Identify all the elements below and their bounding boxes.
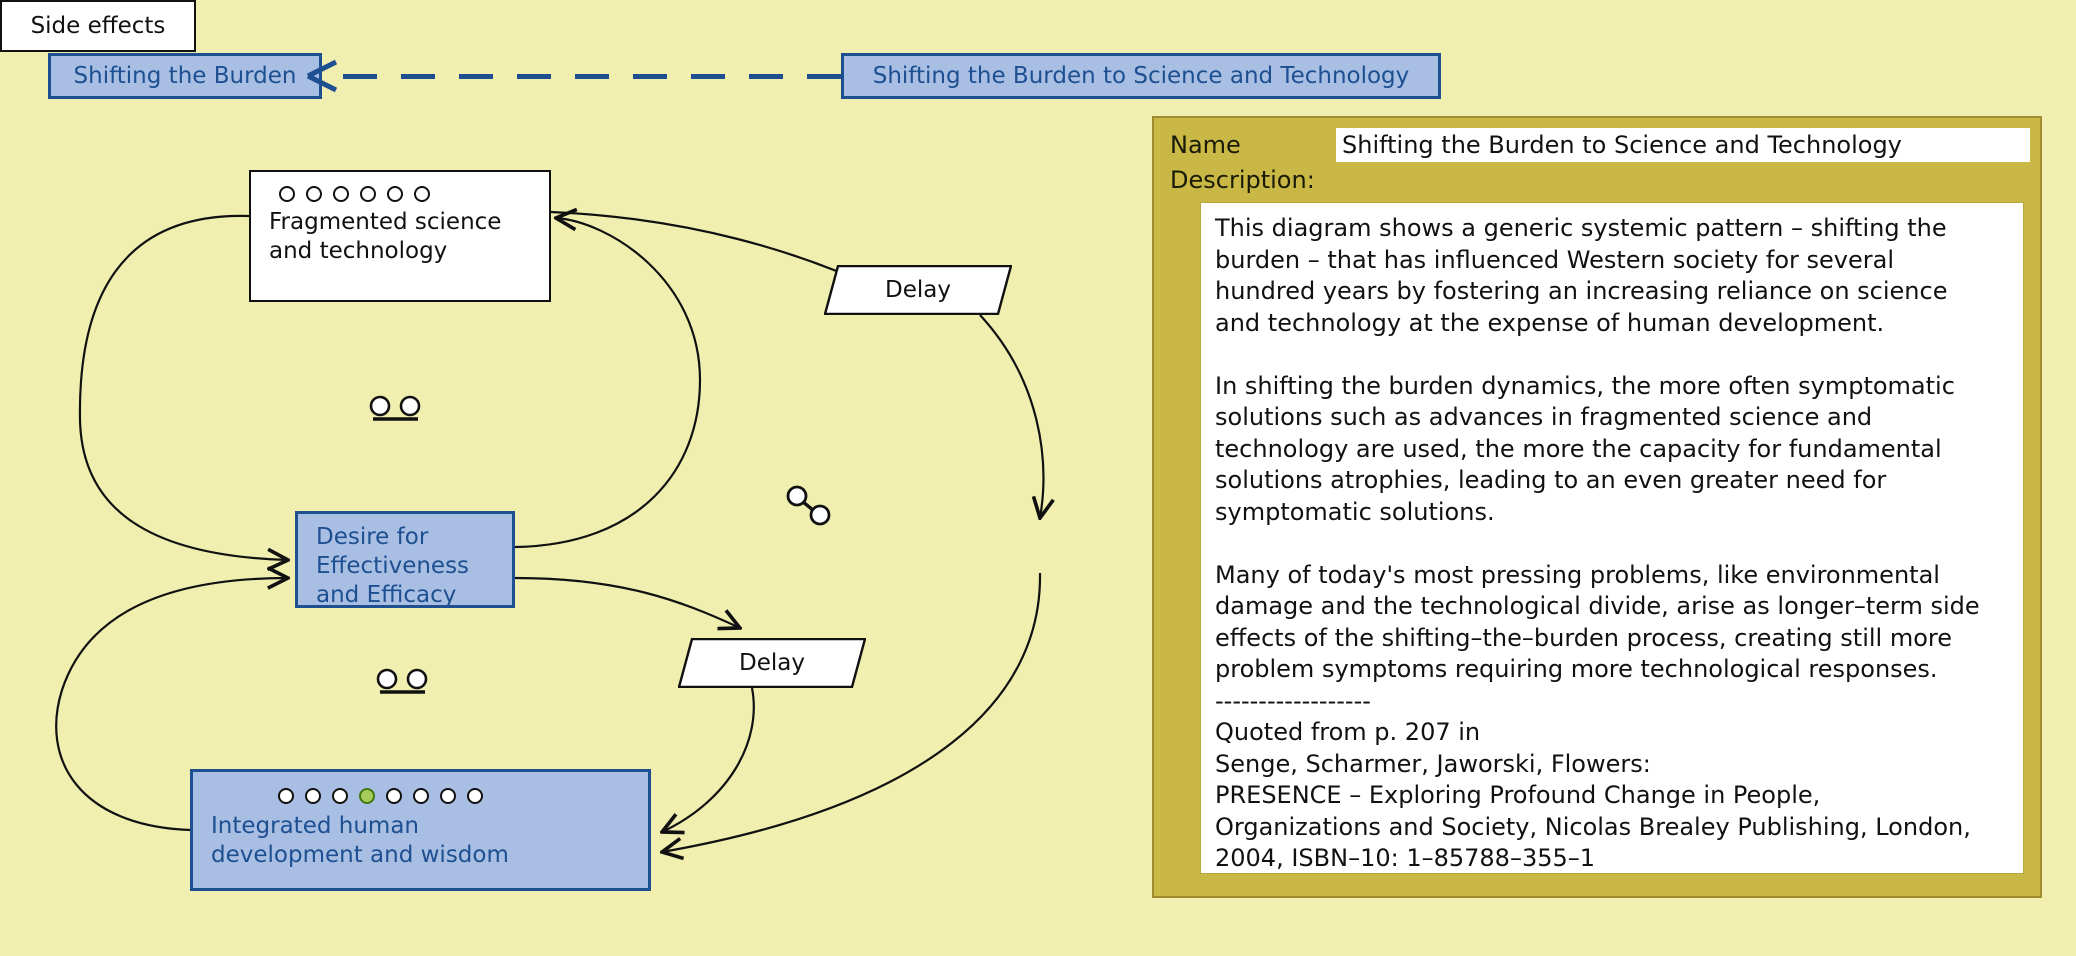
node-fragmented-science-and-technology[interactable]: Fragmented science and technology (249, 170, 551, 302)
edge-side-effects-to-integrated (662, 573, 1040, 852)
pip (387, 186, 403, 202)
name-row: Name Shifting the Burden to Science and … (1164, 128, 2030, 162)
loop-marker-reinforcing-icon (783, 482, 835, 530)
info-panel: Name Shifting the Burden to Science and … (1152, 116, 2042, 898)
node-fragmented-label: Fragmented science and technology (251, 208, 549, 266)
pip (386, 788, 402, 804)
delay-node-lower[interactable]: Delay (678, 638, 866, 688)
pip (333, 186, 349, 202)
pip (278, 788, 294, 804)
name-field-label: Name (1164, 128, 1336, 162)
edge-desire-to-delay-lower (515, 578, 740, 628)
node-integrated-pip-row (278, 788, 483, 804)
pip (440, 788, 456, 804)
delay-lower-label: Delay (678, 638, 866, 688)
loop-marker-balancing-upper-icon (368, 392, 424, 432)
pip (306, 186, 322, 202)
pip (467, 788, 483, 804)
pip (279, 186, 295, 202)
description-field-value: This diagram shows a generic systemic pa… (1215, 213, 2009, 874)
loop-marker-balancing-lower-icon (375, 665, 431, 705)
node-integrated-label: Integrated human development and wisdom (193, 812, 648, 870)
delay-node-upper[interactable]: Delay (824, 265, 1012, 315)
description-field-box[interactable]: This diagram shows a generic systemic pa… (1200, 202, 2024, 874)
node-desire-for-effectiveness-and-efficacy[interactable]: Desire for Effectiveness and Efficacy (295, 511, 515, 608)
edge-delay-lower-to-integrated (662, 688, 754, 832)
description-field-label: Description: (1170, 166, 1315, 194)
pip (305, 788, 321, 804)
pip (414, 186, 430, 202)
pip (332, 788, 348, 804)
pip-active (359, 788, 375, 804)
delay-upper-label: Delay (824, 265, 1012, 315)
node-integrated-human-development-and-wisdom[interactable]: Integrated human development and wisdom (190, 769, 651, 891)
pip (413, 788, 429, 804)
node-desire-label: Desire for Effectiveness and Efficacy (298, 523, 512, 610)
name-field-value[interactable]: Shifting the Burden to Science and Techn… (1336, 128, 2030, 162)
pip (360, 186, 376, 202)
node-fragmented-pip-row (279, 186, 430, 202)
edge-delay-upper-to-side-effects (980, 315, 1043, 518)
